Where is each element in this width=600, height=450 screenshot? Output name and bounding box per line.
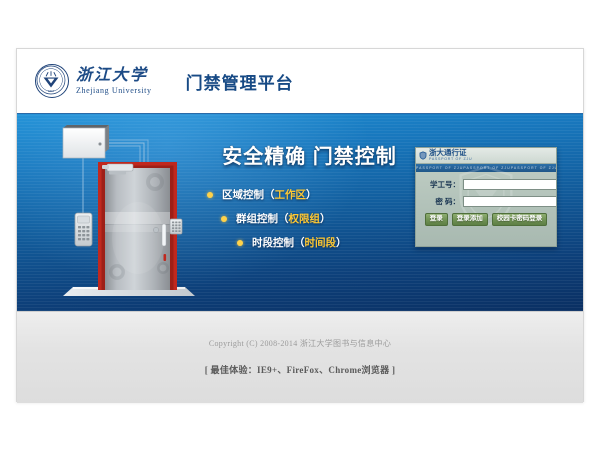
login-add-button[interactable]: 登录添加 [452,213,488,226]
hero-slogan: 安全精确 门禁控制 [207,140,412,169]
feature-list: 区域控制 （ 工作区 ） 群组控制 （ 权限组 ） 时段控制 （ 时间段 [207,187,412,250]
page-title: 门禁管理平台 [186,69,294,94]
svg-text:1897: 1897 [48,89,55,93]
feature-paren-open: （ [278,211,289,226]
login-button[interactable]: 登录 [425,213,448,226]
feature-label: 群组控制 [236,211,278,226]
feature-highlight: 权限组 [289,211,321,226]
brand-name-en: Zhejiang University [76,87,152,95]
login-panel-title-block: 浙大通行证 PASSPORT OF ZJU [429,149,472,161]
feature-paren-open: （ [264,187,275,202]
strip-text: PASSPORT OF ZJU [463,166,510,170]
login-button-row: 登录 登录添加 校园卡密码登录 [422,213,550,226]
login-panel-title: 浙大通行证 [429,149,472,157]
copyright-text: Copyright (C) 2008-2014 浙江大学图书与信息中心 [17,338,583,349]
password-label: 密 码： [422,196,463,207]
login-row-userid: 学工号： [422,179,550,190]
userid-input[interactable] [463,179,557,190]
feature-label: 区域控制 [222,187,264,202]
userid-label: 学工号： [422,179,463,190]
page-frame: 1897 浙江大学 Zhejiang University 门禁管理平台 [16,48,584,402]
feature-item-area: 区域控制 （ 工作区 ） [207,187,412,202]
brand-name-cn: 浙江大学 [76,68,152,84]
bullet-dot-icon [207,192,213,198]
strip-text: PASSPORT OF ZJU [416,166,463,170]
feature-paren-open: （ [294,235,305,250]
feature-highlight: 工作区 [275,187,307,202]
strip-text: PASSPORT OF ZJU [511,166,556,170]
access-control-door-illustration [43,120,223,305]
bullet-dot-icon [221,216,227,222]
password-input[interactable] [463,196,557,207]
login-form: 学工号： 密 码： 登录 登录添加 校园卡密码登录 [416,172,556,230]
browser-note: [ 最佳体验：IE9+、FireFox、Chrome浏览器 ] [17,363,583,376]
bullet-dot-icon [237,240,243,246]
campus-card-login-button[interactable]: 校园卡密码登录 [492,213,548,226]
feature-paren-close: ） [320,211,331,226]
zju-seal-icon: 1897 [35,64,69,98]
login-panel-strip: PASSPORT OF ZJU PASSPORT OF ZJU PASSPORT… [416,164,556,172]
feature-highlight: 时间段 [305,235,337,250]
login-panel-titlebar: 浙大通行证 PASSPORT OF ZJU [416,148,556,164]
login-panel: 浙大通行证 PASSPORT OF ZJU PASSPORT OF ZJU PA… [415,147,557,247]
feature-paren-close: ） [306,187,317,202]
shield-icon [419,151,427,160]
site-header: 1897 浙江大学 Zhejiang University 门禁管理平台 [17,49,583,113]
feature-paren-close: ） [336,235,347,250]
hero-banner: 安全精确 门禁控制 区域控制 （ 工作区 ） 群组控制 （ 权限组 ） [17,113,583,311]
brand-wordmark: 浙江大学 Zhejiang University [76,68,152,95]
feature-item-group: 群组控制 （ 权限组 ） [207,211,412,226]
login-panel-subtitle: PASSPORT OF ZJU [429,158,472,162]
feature-label: 时段控制 [252,235,294,250]
login-row-password: 密 码： [422,196,550,207]
hero-text-block: 安全精确 门禁控制 区域控制 （ 工作区 ） 群组控制 （ 权限组 ） [207,140,412,266]
feature-item-timeslot: 时段控制 （ 时间段 ） [207,235,412,250]
site-footer: Copyright (C) 2008-2014 浙江大学图书与信息中心 [ 最佳… [17,311,583,403]
brand-logo[interactable]: 1897 浙江大学 Zhejiang University [35,64,152,98]
